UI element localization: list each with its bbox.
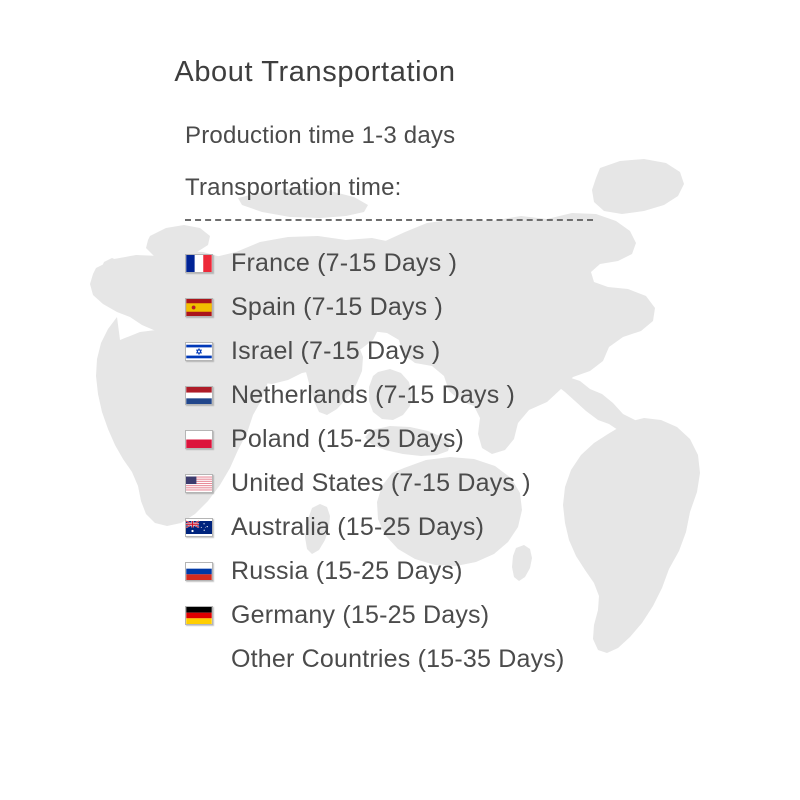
flag-cell	[185, 342, 231, 361]
production-time-text: Production time 1-3 days	[185, 122, 455, 150]
flag-israel-icon	[185, 342, 213, 361]
list-item-label: France (7-15 Days )	[231, 251, 457, 276]
flag-spain-icon	[185, 298, 213, 317]
list-item: Australia (15-25 Days)	[185, 505, 800, 549]
shipping-info-page: About Transportation Production time 1-3…	[0, 0, 800, 800]
list-item: Spain (7-15 Days )	[185, 285, 800, 329]
flag-cell	[185, 298, 231, 317]
list-item: France (7-15 Days )	[185, 241, 800, 285]
list-item: Poland (15-25 Days)	[185, 417, 800, 461]
flag-cell	[185, 518, 231, 537]
flag-poland-icon	[185, 430, 213, 449]
flag-netherlands-icon	[185, 386, 213, 405]
shipping-list: France (7-15 Days ) Spain (7-15 Days )	[185, 241, 800, 681]
flag-germany-icon	[185, 606, 213, 625]
flag-cell	[185, 386, 231, 405]
flag-cell	[185, 606, 231, 625]
flag-russia-icon	[185, 562, 213, 581]
list-item: Israel (7-15 Days )	[185, 329, 800, 373]
flag-cell	[185, 254, 231, 273]
list-item-label: Germany (15-25 Days)	[231, 603, 489, 628]
list-item: Russia (15-25 Days)	[185, 549, 800, 593]
list-item: Netherlands (7-15 Days )	[185, 373, 800, 417]
list-item-label: Australia (15-25 Days)	[231, 515, 484, 540]
list-item-label: United States (7-15 Days )	[231, 471, 531, 496]
list-item-label: Russia (15-25 Days)	[231, 559, 463, 584]
list-item: United States (7-15 Days )	[185, 461, 800, 505]
list-item-label: Netherlands (7-15 Days )	[231, 383, 515, 408]
flag-france-icon	[185, 254, 213, 273]
list-item: Germany (15-25 Days)	[185, 593, 800, 637]
flag-cell	[185, 430, 231, 449]
flag-australia-icon	[185, 518, 213, 537]
flag-cell	[185, 474, 231, 493]
flag-united-states-icon	[185, 474, 213, 493]
dashed-divider	[185, 219, 593, 221]
list-item-label: Other Countries (15-35 Days)	[231, 647, 565, 672]
transportation-time-label: Transportation time:	[185, 174, 402, 202]
list-item-label: Israel (7-15 Days )	[231, 339, 440, 364]
page-title: About Transportation	[0, 56, 800, 89]
list-item: Other Countries (15-35 Days)	[185, 637, 800, 681]
list-item-label: Spain (7-15 Days )	[231, 295, 443, 320]
flag-cell	[185, 562, 231, 581]
list-item-label: Poland (15-25 Days)	[231, 427, 464, 452]
